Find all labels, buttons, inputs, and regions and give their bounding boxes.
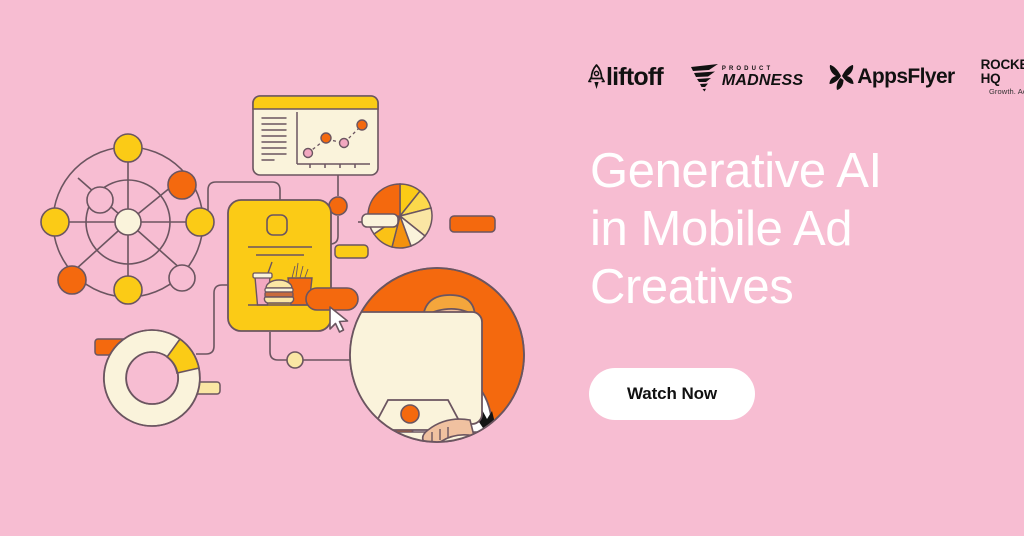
butterfly-icon bbox=[829, 64, 855, 91]
logo-rocketship-wordmark: ROCKETSHIP HQ bbox=[981, 58, 1024, 85]
chip-cream bbox=[362, 214, 398, 227]
logo-madness-wordmark: MADNESS bbox=[722, 73, 803, 89]
logo-liftoff-wordmark: liftoff bbox=[606, 65, 663, 90]
donut-chart bbox=[104, 330, 200, 426]
banner-content: liftoff PRODUCT MADNESS bbox=[588, 0, 1024, 536]
watch-now-button[interactable]: Watch Now bbox=[589, 368, 755, 420]
logo-appsflyer: AppsFlyer bbox=[829, 64, 954, 91]
analytics-window bbox=[253, 96, 378, 175]
ad-creative-card bbox=[228, 200, 331, 331]
hero-illustration bbox=[0, 0, 560, 536]
person-at-computer bbox=[340, 268, 540, 468]
logo-appsflyer-wordmark: AppsFlyer bbox=[857, 65, 954, 89]
network-diagram bbox=[41, 134, 214, 304]
logo-liftoff: liftoff bbox=[588, 64, 663, 90]
chip-yellow bbox=[335, 245, 368, 258]
partner-logo-row: liftoff PRODUCT MADNESS bbox=[588, 58, 988, 96]
tornado-icon bbox=[689, 62, 720, 92]
illustration-cta-pill bbox=[306, 288, 358, 310]
chip-orange-right bbox=[450, 216, 495, 232]
page-title: Generative AI in Mobile Ad Creatives bbox=[590, 142, 1010, 316]
logo-rocketship-hq: ROCKETSHIP HQ Growth. Accelerated bbox=[981, 58, 1024, 96]
rocket-icon bbox=[588, 64, 605, 90]
logo-rocketship-tagline: Growth. Accelerated bbox=[989, 88, 1024, 96]
logo-madness-kicker: PRODUCT bbox=[722, 66, 773, 72]
promo-banner: liftoff PRODUCT MADNESS bbox=[0, 0, 1024, 536]
logo-product-madness: PRODUCT MADNESS bbox=[689, 62, 803, 92]
